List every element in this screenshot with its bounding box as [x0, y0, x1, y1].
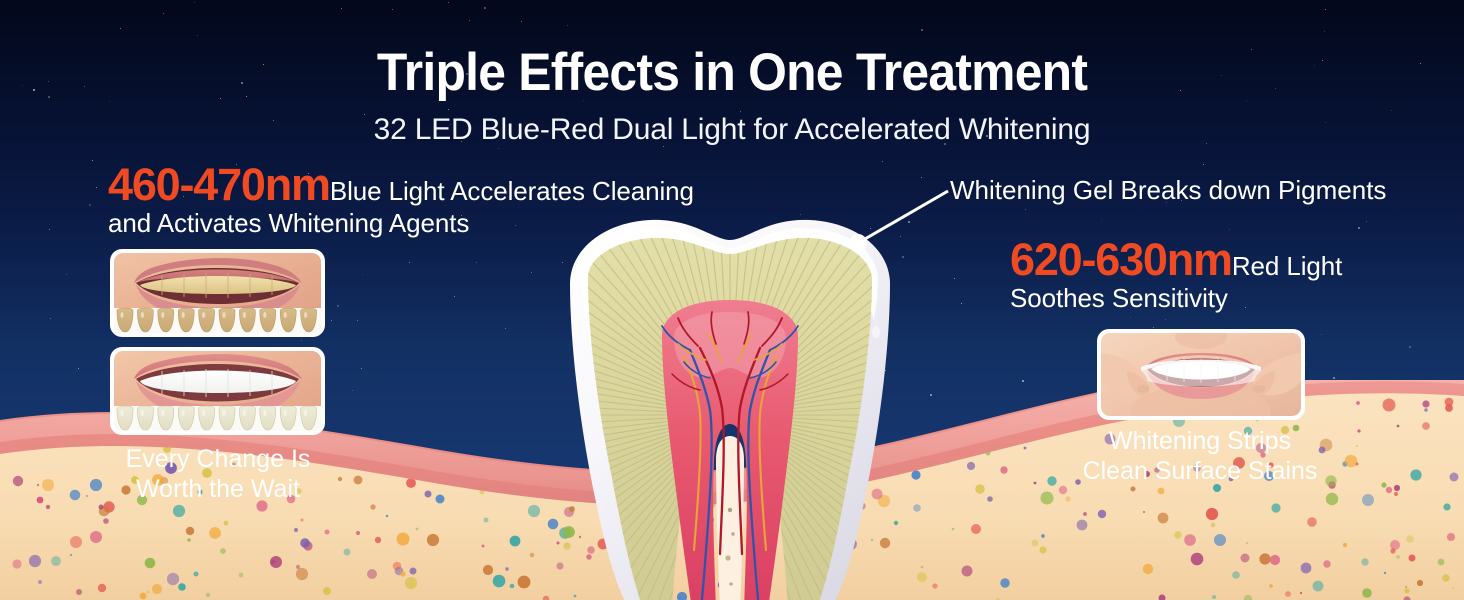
promo-banner: Triple Effects in One Treatment 32 LED B… — [0, 0, 1464, 600]
left-headline-line2: and Activates Whitening Agents — [108, 208, 768, 239]
photo-whitening-strip — [1097, 329, 1305, 420]
photo-after-whitening — [110, 347, 325, 435]
left-headline: 460-470nmBlue Light Accelerates Cleaning… — [108, 159, 768, 239]
whitening-gel-callout: Whitening Gel Breaks down Pigments — [950, 175, 1386, 206]
left-caption-line1: Every Change Is — [58, 444, 378, 474]
right-headline: 620-630nmRed Light Soothes Sensitivity — [1010, 234, 1440, 314]
left-caption: Every Change Is Worth the Wait — [58, 444, 378, 504]
page-subtitle: 32 LED Blue-Red Dual Light for Accelerat… — [0, 113, 1464, 147]
right-caption-line2: Clean Surface Stains — [1040, 456, 1360, 486]
right-headline-line2: Soothes Sensitivity — [1010, 283, 1440, 314]
tooth-cross-section-illustration — [540, 210, 920, 600]
right-wavelength-value: 620-630nm — [1010, 234, 1232, 285]
left-wavelength-value: 460-470nm — [108, 159, 330, 210]
left-headline-line1: Blue Light Accelerates Cleaning — [330, 176, 694, 206]
right-headline-line1: Red Light — [1232, 251, 1342, 281]
right-caption-line1: Whitening Strips — [1040, 426, 1360, 456]
page-title: Triple Effects in One Treatment — [44, 42, 1420, 103]
left-caption-line2: Worth the Wait — [58, 474, 378, 504]
right-caption: Whitening Strips Clean Surface Stains — [1040, 426, 1360, 486]
photo-before-whitening — [110, 249, 325, 337]
